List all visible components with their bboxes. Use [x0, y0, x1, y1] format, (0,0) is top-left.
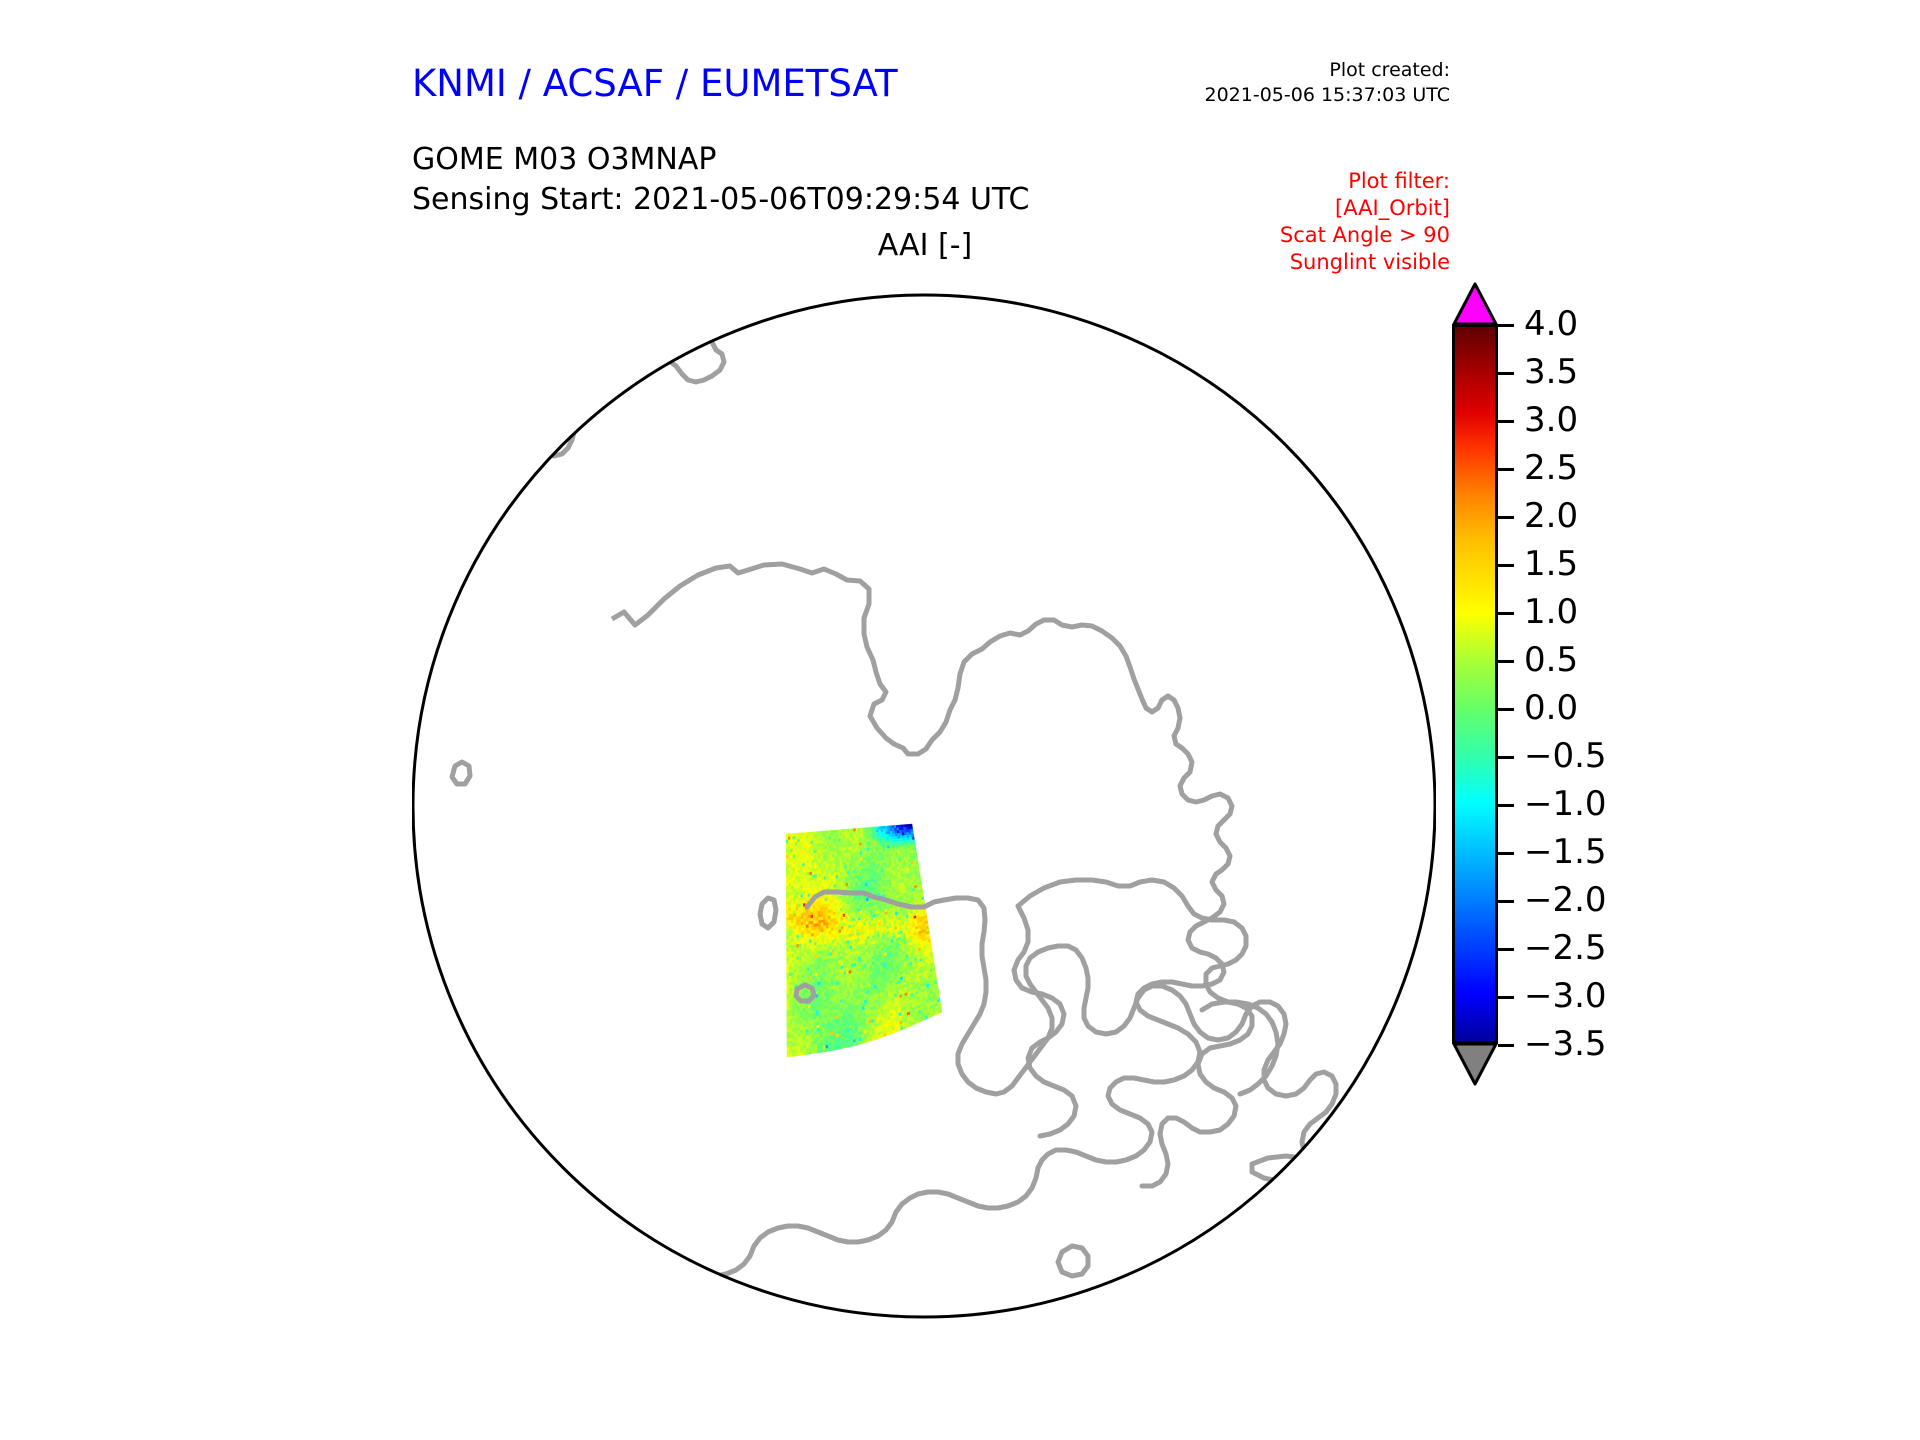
colorbar-tick — [1498, 756, 1514, 759]
map-disk — [412, 292, 1436, 1324]
plot-created-label: Plot created: — [1160, 58, 1450, 83]
colorbar-tick-label: −1.5 — [1524, 835, 1607, 869]
colorbar-tick — [1498, 612, 1514, 615]
colorbar-tick-label: 2.0 — [1524, 499, 1578, 533]
colorbar: 4.03.53.02.52.01.51.00.50.0−0.5−1.0−1.5−… — [1442, 282, 1682, 1102]
island-small-1 — [452, 762, 470, 784]
colorbar-tick — [1498, 1044, 1514, 1047]
island-small-3 — [760, 898, 776, 928]
colorbar-tick — [1498, 564, 1514, 567]
island-south-georgia — [1252, 1156, 1320, 1184]
colorbar-tick-label: 3.0 — [1524, 403, 1578, 437]
plot-filter-block: Plot filter: [AAI_Orbit] Scat Angle > 90… — [1150, 168, 1450, 276]
plot-filter-line-1: Scat Angle > 90 — [1150, 222, 1450, 249]
colorbar-tick — [1498, 804, 1514, 807]
coastline-new-zealand — [642, 296, 724, 382]
colorbar-tick-label: −0.5 — [1524, 739, 1607, 773]
organisation-title: KNMI / ACSAF / EUMETSAT — [412, 62, 898, 105]
plot-filter-line-0: [AAI_Orbit] — [1150, 195, 1450, 222]
colorbar-tick-label: −2.5 — [1524, 931, 1607, 965]
plot-created-block: Plot created: 2021-05-06 15:37:03 UTC — [1160, 58, 1450, 108]
colorbar-tick-label: 2.5 — [1524, 451, 1578, 485]
colorbar-tick-label: 4.0 — [1524, 307, 1578, 341]
aai-swath — [786, 824, 942, 1057]
plot-created-timestamp: 2021-05-06 15:37:03 UTC — [1160, 83, 1450, 108]
colorbar-tick-label: 1.0 — [1524, 595, 1578, 629]
plot-filter-line-2: Sunglint visible — [1150, 249, 1450, 276]
island-falkland — [1058, 1246, 1088, 1276]
sensing-start: Sensing Start: 2021-05-06T09:29:54 UTC — [412, 180, 1029, 220]
colorbar-tick-label: −3.0 — [1524, 979, 1607, 1013]
colorbar-tick — [1498, 516, 1514, 519]
colorbar-tick — [1498, 660, 1514, 663]
coastline-south-america-inner — [1014, 906, 1076, 1136]
coastline-fragment-upper-left — [412, 364, 456, 404]
colorbar-under-arrow — [1452, 1042, 1498, 1086]
colorbar-tick — [1498, 372, 1514, 375]
colorbar-tick-label: 1.5 — [1524, 547, 1578, 581]
colorbar-gradient — [1452, 324, 1498, 1044]
colorbar-tick-label: 3.5 — [1524, 355, 1578, 389]
colorbar-tick-label: 0.0 — [1524, 691, 1578, 725]
colorbar-tick-label: −3.5 — [1524, 1027, 1607, 1061]
colorbar-tick — [1498, 900, 1514, 903]
colorbar-tick — [1498, 948, 1514, 951]
colorbar-over-arrow — [1452, 282, 1498, 326]
colorbar-tick-label: −1.0 — [1524, 787, 1607, 821]
colorbar-tick — [1498, 420, 1514, 423]
colorbar-tick — [1498, 852, 1514, 855]
colorbar-tick-label: 0.5 — [1524, 643, 1578, 677]
colorbar-tick — [1498, 708, 1514, 711]
colorbar-tick — [1498, 468, 1514, 471]
colorbar-tick-label: −2.0 — [1524, 883, 1607, 917]
map-svg — [412, 292, 1436, 1324]
plot-filter-title: Plot filter: — [1150, 168, 1450, 195]
colorbar-tick — [1498, 324, 1514, 327]
plot-canvas: KNMI / ACSAF / EUMETSAT Plot created: 20… — [0, 0, 1920, 1440]
colorbar-tick — [1498, 996, 1514, 999]
product-name: GOME M03 O3MNAP — [412, 140, 716, 180]
